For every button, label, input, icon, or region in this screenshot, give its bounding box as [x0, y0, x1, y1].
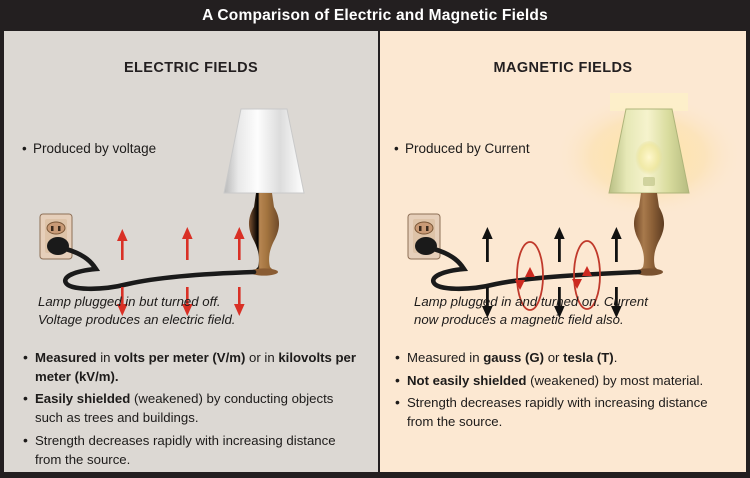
magnetic-loop-arrowhead-icon	[515, 266, 592, 290]
bulb-icon	[635, 141, 663, 177]
magnetic-panel-heading: MAGNETIC FIELDS	[380, 60, 746, 76]
wall-outlet-icon	[40, 214, 72, 259]
emphasis-text: gauss (G)	[483, 350, 544, 365]
magnetic-fields-panel: MAGNETIC FIELDS •Produced by Current	[380, 31, 746, 472]
lamp-on-icon	[609, 109, 689, 276]
list-item: Measured in gauss (G) or tesla (T).	[394, 349, 734, 368]
plain-text: .	[614, 350, 618, 365]
electric-bullet-list: Measured in volts per meter (V/m) or in …	[22, 349, 364, 472]
list-item: Strength decreases rapidly with increasi…	[22, 432, 364, 469]
emphasis-text: Not easily shielded	[407, 373, 526, 388]
electric-fields-panel: ELECTRIC FIELDS •Produced by voltage	[4, 31, 378, 472]
wall-outlet-icon	[408, 214, 440, 259]
list-item: Measured in volts per meter (V/m) or in …	[22, 349, 364, 386]
emphasis-text: tesla (T)	[563, 350, 614, 365]
comparison-figure: A Comparison of Electric and Magnetic Fi…	[0, 0, 750, 478]
page-title: A Comparison of Electric and Magnetic Fi…	[202, 7, 548, 25]
lamp-off-icon	[224, 109, 304, 276]
list-item: Not easily shielded (weakened) by most m…	[394, 372, 734, 391]
bullet-marker: •	[22, 141, 33, 158]
electric-caption-line-1: Lamp plugged in but turned off.	[38, 293, 235, 311]
figure-title-bar: A Comparison of Electric and Magnetic Fi…	[0, 0, 750, 31]
magnetic-caption-line-1: Lamp plugged in and turned on. Current	[414, 293, 648, 311]
emphasis-text: volts per meter (V/m)	[114, 350, 245, 365]
plain-text: or in	[245, 350, 278, 365]
plain-text: Measured in	[407, 350, 483, 365]
power-cord-icon	[65, 249, 254, 289]
magnetic-top-bullet: •Produced by Current	[394, 141, 530, 158]
plain-text: Strength decreases rapidly with increasi…	[35, 433, 336, 467]
magnetic-top-bullet-label: Produced by Current	[405, 141, 530, 156]
list-item: Strength decreases rapidly with increasi…	[394, 394, 734, 431]
electric-caption-line-2: Voltage produces an electric field.	[38, 311, 235, 329]
plain-text: Strength decreases rapidly with increasi…	[407, 395, 708, 429]
bullet-marker: •	[394, 141, 405, 158]
electric-panel-heading: ELECTRIC FIELDS	[4, 60, 378, 76]
electric-caption: Lamp plugged in but turned off. Voltage …	[38, 293, 235, 329]
electric-top-bullet: •Produced by voltage	[22, 141, 156, 158]
plain-text: or	[544, 350, 563, 365]
magnetic-caption-line-2: now produces a magnetic field also.	[414, 311, 648, 329]
plain-text: in	[97, 350, 115, 365]
plain-text: (weakened) by most material.	[526, 373, 703, 388]
magnetic-caption: Lamp plugged in and turned on. Current n…	[414, 293, 648, 329]
emphasis-text: Easily shielded	[35, 391, 130, 406]
lamp-glow	[553, 94, 743, 218]
magnetic-bullet-list: Measured in gauss (G) or tesla (T).Not e…	[394, 349, 734, 436]
power-cord-icon	[433, 249, 639, 289]
list-item: Easily shielded (weakened) by conducting…	[22, 390, 364, 427]
electric-top-bullet-label: Produced by voltage	[33, 141, 156, 156]
emphasis-text: Measured	[35, 350, 97, 365]
